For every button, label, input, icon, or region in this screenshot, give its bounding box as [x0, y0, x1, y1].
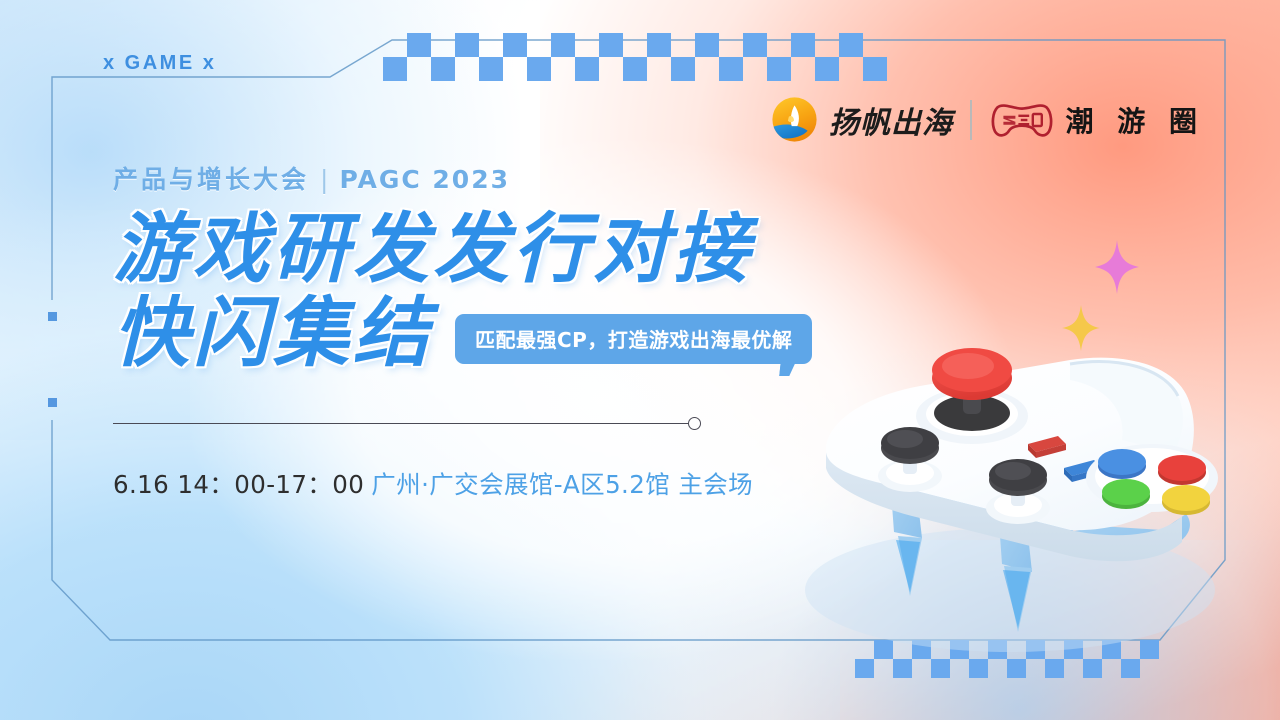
logo-yangfanchuhai[interactable]: 扬帆出海 [771, 96, 953, 143]
logo-bar: 扬帆出海 潮 游 圈 [771, 96, 1204, 143]
event-datetime: 6.16 14：00-17：00 [113, 470, 364, 499]
gamepad-outline-icon [989, 100, 1055, 140]
logo-divider [970, 100, 972, 140]
divider-line [113, 423, 689, 424]
checkerboard-strip-icon [383, 33, 887, 81]
kicker-en: PAGC 2023 [339, 165, 510, 194]
divider-endpoint-dot [688, 417, 701, 430]
event-venue: 广州·广交会展馆-A区5.2馆 主会场 [371, 470, 753, 499]
logo-secondary-name: 潮 游 圈 [1066, 100, 1205, 140]
headline-line-1: 游戏研发发行对接 [113, 210, 993, 288]
headline-line-2: 快闪集结 [113, 294, 433, 372]
game-tag-label: x GAME x [103, 52, 216, 75]
sail-boat-circle-icon [771, 96, 818, 143]
tagline-bubble: 匹配最强CP，打造游戏出海最优解 [455, 314, 812, 364]
banner-canvas: x GAME x [0, 0, 1280, 720]
headline-block: 产品与增长大会 | PAGC 2023 游戏研发发行对接 快闪集结 匹配最强CP… [113, 160, 993, 501]
divider-rule [113, 417, 701, 430]
kicker-cn: 产品与增长大会 [113, 160, 309, 196]
kicker-row: 产品与增长大会 | PAGC 2023 [113, 160, 993, 196]
sparkle-star-icon [1095, 240, 1139, 294]
event-meta: 6.16 14：00-17：00广州·广交会展馆-A区5.2馆 主会场 [113, 466, 993, 501]
logo-primary-name: 扬帆出海 [829, 98, 953, 142]
kicker-divider: | [320, 165, 328, 194]
logo-chaoyouquan[interactable]: 潮 游 圈 [989, 100, 1205, 140]
headline-line-2-row: 快闪集结 匹配最强CP，打造游戏出海最优解 [113, 294, 993, 372]
